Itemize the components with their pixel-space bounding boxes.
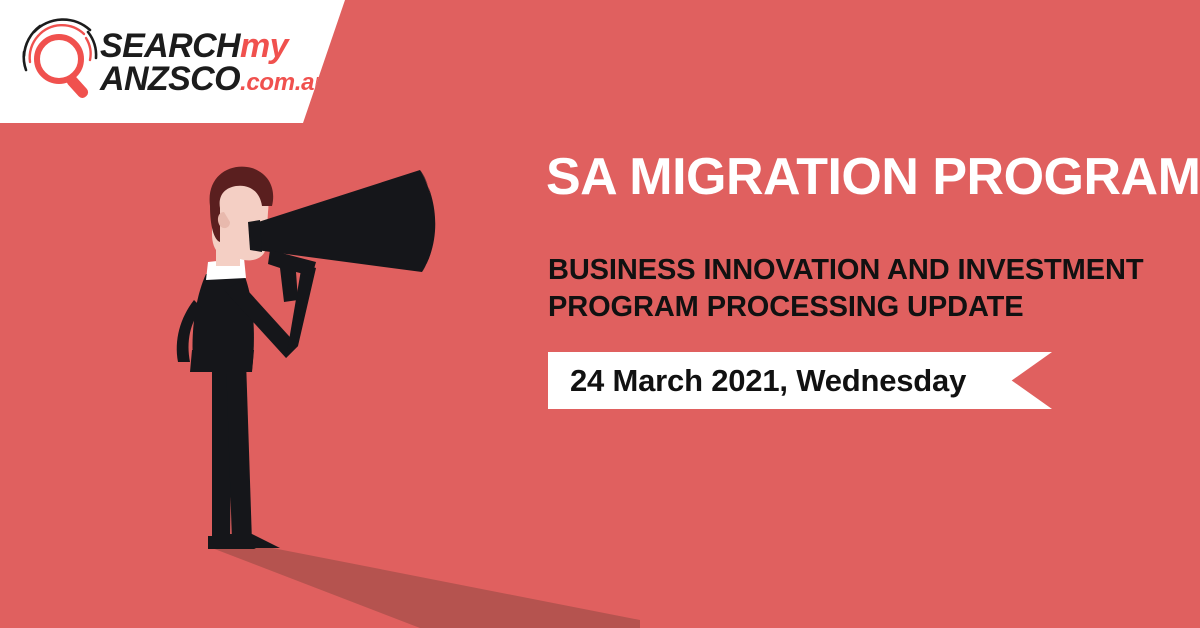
magnifying-glass-icon [12, 12, 108, 108]
figure-shadow-shape [212, 542, 640, 628]
megaphone-mouth-shape [248, 220, 262, 252]
logo-word-anzsco: ANZSCO [100, 60, 240, 98]
logo-word-tld: .com.au [240, 69, 329, 96]
banner-subtitle-line-2: PROGRAM PROCESSING UPDATE [548, 289, 1148, 326]
jacket-hem-shape [190, 350, 254, 372]
logo-word-my: my [240, 27, 288, 65]
banner-content: SA MIGRATION PROGRAM BUSINESS INNOVATION… [546, 150, 1166, 326]
brand-logo[interactable]: SEARCHmy ANZSCO.com.au [8, 8, 308, 112]
banner-subtitle-line-1: BUSINESS INNOVATION AND INVESTMENT [548, 252, 1148, 289]
promo-banner: SEARCHmy ANZSCO.com.au SA MIGRATION PROG… [0, 0, 1200, 628]
front-shoe-shape [228, 534, 280, 548]
date-ribbon: 24 March 2021, Wednesday [548, 352, 1052, 409]
page-title: SA MIGRATION PROGRAM [546, 150, 1166, 204]
banner-subtitle: BUSINESS INNOVATION AND INVESTMENT PROGR… [548, 252, 1148, 326]
brand-logo-wordmark: SEARCHmy ANZSCO.com.au [100, 30, 329, 95]
brand-logo-panel[interactable]: SEARCHmy ANZSCO.com.au [0, 0, 350, 123]
date-label: 24 March 2021, Wednesday [570, 363, 966, 399]
